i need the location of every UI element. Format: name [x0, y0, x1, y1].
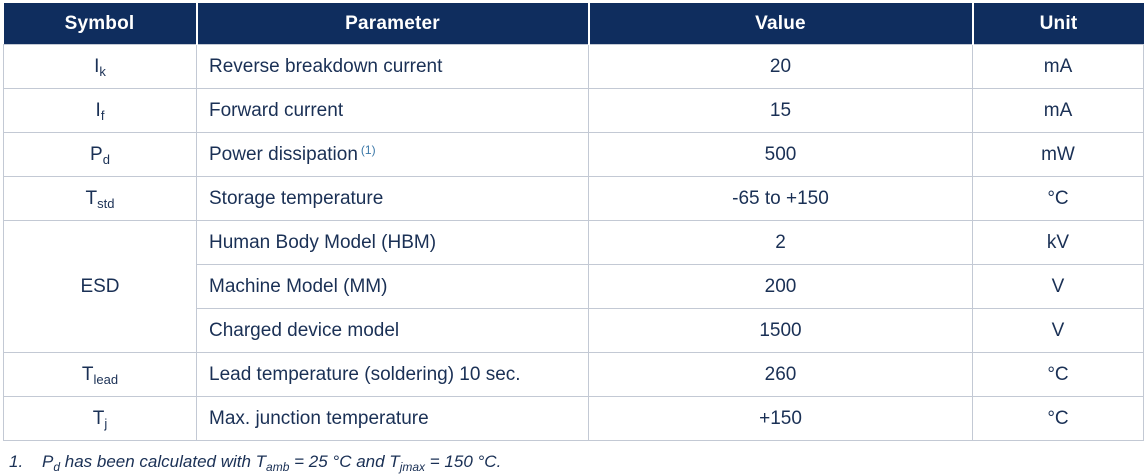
footnote-reference: (1): [361, 143, 376, 157]
table-row: ESD Human Body Model (HBM) 2 kV: [4, 221, 1144, 265]
parameter-label: Reverse breakdown current: [209, 56, 442, 77]
cell-unit: mA: [973, 89, 1144, 133]
cell-unit: °C: [973, 397, 1144, 441]
cell-value: 500: [589, 133, 973, 177]
cell-symbol: Tj: [4, 397, 197, 441]
column-header-unit: Unit: [973, 3, 1144, 45]
footnote-symbol-pd-sub: d: [53, 460, 60, 474]
parameter-label: Power dissipation: [209, 144, 358, 165]
table-row: If Forward current 15 mA: [4, 89, 1144, 133]
cell-value: +150: [589, 397, 973, 441]
table-header: Symbol Parameter Value Unit: [4, 3, 1144, 45]
footnote-text: Pd has been calculated with Tamb = 25 °C…: [42, 452, 501, 472]
column-header-symbol: Symbol: [4, 3, 197, 45]
cell-parameter: Power dissipation(1): [197, 133, 589, 177]
cell-value: 260: [589, 353, 973, 397]
cell-unit: V: [973, 309, 1144, 353]
cell-unit: kV: [973, 221, 1144, 265]
cell-value: 200: [589, 265, 973, 309]
cell-parameter: Human Body Model (HBM): [197, 221, 589, 265]
footnote-text-part-6: = 150 °C.: [425, 452, 501, 471]
table-row: Tj Max. junction temperature +150 °C: [4, 397, 1144, 441]
footnote-item: 1. Pd has been calculated with Tamb = 25…: [9, 452, 1143, 472]
parameter-label: Lead temperature (soldering) 10 sec.: [209, 364, 521, 385]
footnote-symbol-tamb-sub: amb: [266, 460, 289, 474]
symbol-subscript: f: [101, 108, 105, 123]
symbol-base: T: [86, 188, 98, 209]
cell-value: 1500: [589, 309, 973, 353]
symbol-subscript: d: [103, 152, 110, 167]
cell-parameter: Machine Model (MM): [197, 265, 589, 309]
footnote-symbol-tjmax-sub: jmax: [400, 460, 425, 474]
parameter-label: Human Body Model (HBM): [209, 232, 436, 253]
symbol-base: P: [90, 144, 103, 165]
column-header-value: Value: [589, 3, 973, 45]
symbol-subscript: std: [97, 196, 114, 211]
symbol-subscript: k: [99, 64, 106, 79]
cell-unit: mA: [973, 45, 1144, 89]
footnote-text-part-2: has been calculated with: [60, 452, 256, 471]
cell-parameter: Max. junction temperature: [197, 397, 589, 441]
cell-unit: °C: [973, 177, 1144, 221]
absolute-maximum-ratings-sheet: Symbol Parameter Value Unit Ik Reverse b…: [0, 0, 1146, 469]
footnote-text-part-4: = 25 °C and: [289, 452, 389, 471]
parameter-label: Machine Model (MM): [209, 276, 387, 297]
cell-symbol: Tstd: [4, 177, 197, 221]
parameter-label: Forward current: [209, 100, 343, 121]
cell-symbol-esd-merged: ESD: [4, 221, 197, 353]
symbol-base: T: [82, 364, 94, 385]
cell-unit: V: [973, 265, 1144, 309]
cell-symbol: Ik: [4, 45, 197, 89]
column-header-parameter: Parameter: [197, 3, 589, 45]
cell-value: 2: [589, 221, 973, 265]
symbol-subscript: j: [104, 416, 107, 431]
table-row: Tstd Storage temperature -65 to +150 °C: [4, 177, 1144, 221]
table-row: Ik Reverse breakdown current 20 mA: [4, 45, 1144, 89]
footnote-number: 1.: [9, 452, 42, 472]
cell-unit: mW: [973, 133, 1144, 177]
footnote-symbol-pd: P: [42, 452, 53, 471]
parameter-label: Max. junction temperature: [209, 408, 429, 429]
footnote-symbol-tamb: T: [256, 452, 266, 471]
footnote-symbol-tjmax: T: [389, 452, 399, 471]
cell-parameter: Storage temperature: [197, 177, 589, 221]
parameter-label: Storage temperature: [209, 188, 383, 209]
table-row: Pd Power dissipation(1) 500 mW: [4, 133, 1144, 177]
footnotes-section: 1. Pd has been calculated with Tamb = 25…: [3, 452, 1143, 472]
cell-parameter: Forward current: [197, 89, 589, 133]
cell-symbol: If: [4, 89, 197, 133]
cell-symbol: Tlead: [4, 353, 197, 397]
cell-value: -65 to +150: [589, 177, 973, 221]
parameter-label: Charged device model: [209, 320, 399, 341]
symbol-subscript: lead: [94, 372, 119, 387]
cell-value: 15: [589, 89, 973, 133]
cell-symbol: Pd: [4, 133, 197, 177]
table-header-row: Symbol Parameter Value Unit: [4, 3, 1144, 45]
specifications-table: Symbol Parameter Value Unit Ik Reverse b…: [3, 3, 1144, 441]
cell-unit: °C: [973, 353, 1144, 397]
table-body: Ik Reverse breakdown current 20 mA If Fo…: [4, 45, 1144, 441]
symbol-base: T: [93, 408, 105, 429]
cell-parameter: Charged device model: [197, 309, 589, 353]
cell-value: 20: [589, 45, 973, 89]
cell-parameter: Reverse breakdown current: [197, 45, 589, 89]
table-row: Tlead Lead temperature (soldering) 10 se…: [4, 353, 1144, 397]
cell-parameter: Lead temperature (soldering) 10 sec.: [197, 353, 589, 397]
